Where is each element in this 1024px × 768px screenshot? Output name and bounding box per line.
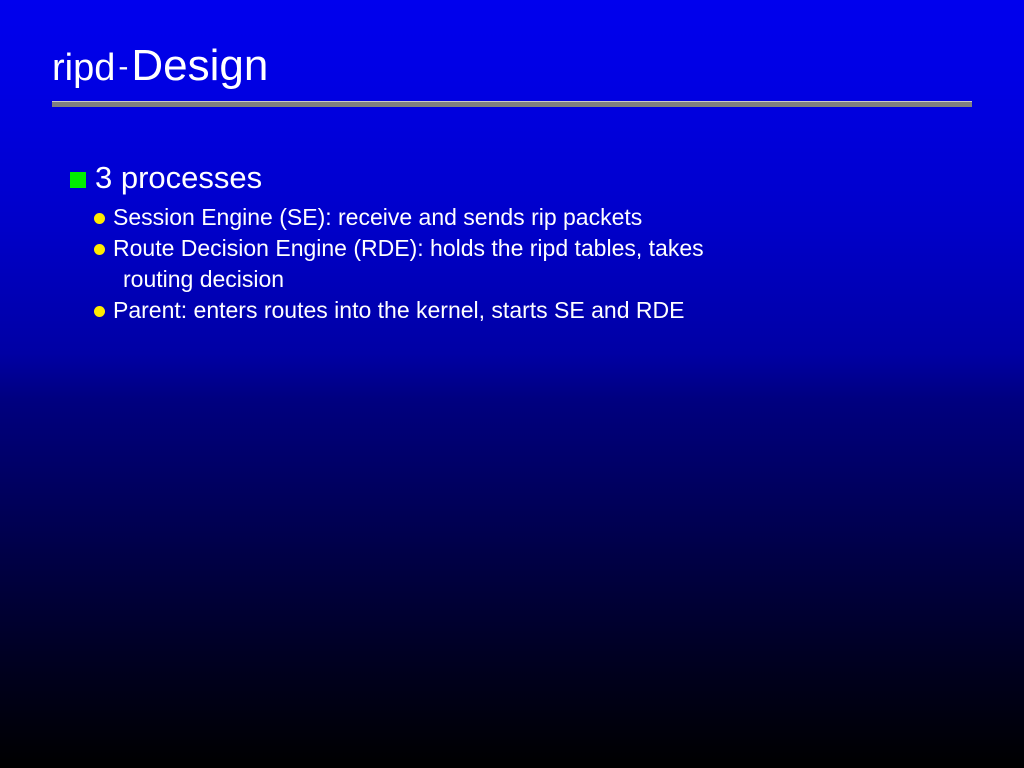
bullet-level2-label: Parent: enters routes into the kernel, s… bbox=[113, 295, 684, 326]
bullet-level1-label: 3 processes bbox=[95, 160, 262, 196]
bullet-level2-label: Session Engine (SE): receive and sends r… bbox=[113, 202, 642, 233]
bullet-level2-label: Route Decision Engine (RDE): holds the r… bbox=[113, 233, 704, 295]
list-item: Route Decision Engine (RDE): holds the r… bbox=[70, 233, 990, 295]
bullet-level2-list: Session Engine (SE): receive and sends r… bbox=[70, 202, 990, 326]
presentation-slide: ripd-Design 3 processes Session Engine (… bbox=[0, 0, 1024, 768]
bullet-level1-item: 3 processes bbox=[70, 160, 990, 196]
dot-bullet-icon bbox=[94, 213, 105, 224]
bullet-level2-wrapped-line: routing decision bbox=[113, 264, 704, 295]
title-part-ripd: ripd bbox=[52, 47, 115, 89]
dot-bullet-icon bbox=[94, 244, 105, 255]
bullet-level2-line1: Route Decision Engine (RDE): holds the r… bbox=[113, 235, 704, 261]
title-dash: - bbox=[115, 50, 131, 83]
list-item: Parent: enters routes into the kernel, s… bbox=[70, 295, 990, 326]
dot-bullet-icon bbox=[94, 306, 105, 317]
title-divider-rule bbox=[52, 101, 972, 107]
slide-title-area: ripd-Design bbox=[52, 44, 974, 106]
list-item: Session Engine (SE): receive and sends r… bbox=[70, 202, 990, 233]
square-bullet-icon bbox=[70, 172, 86, 188]
slide-body: 3 processes Session Engine (SE): receive… bbox=[70, 160, 990, 326]
title-part-design: Design bbox=[131, 41, 268, 90]
page-title: ripd-Design bbox=[52, 44, 974, 88]
